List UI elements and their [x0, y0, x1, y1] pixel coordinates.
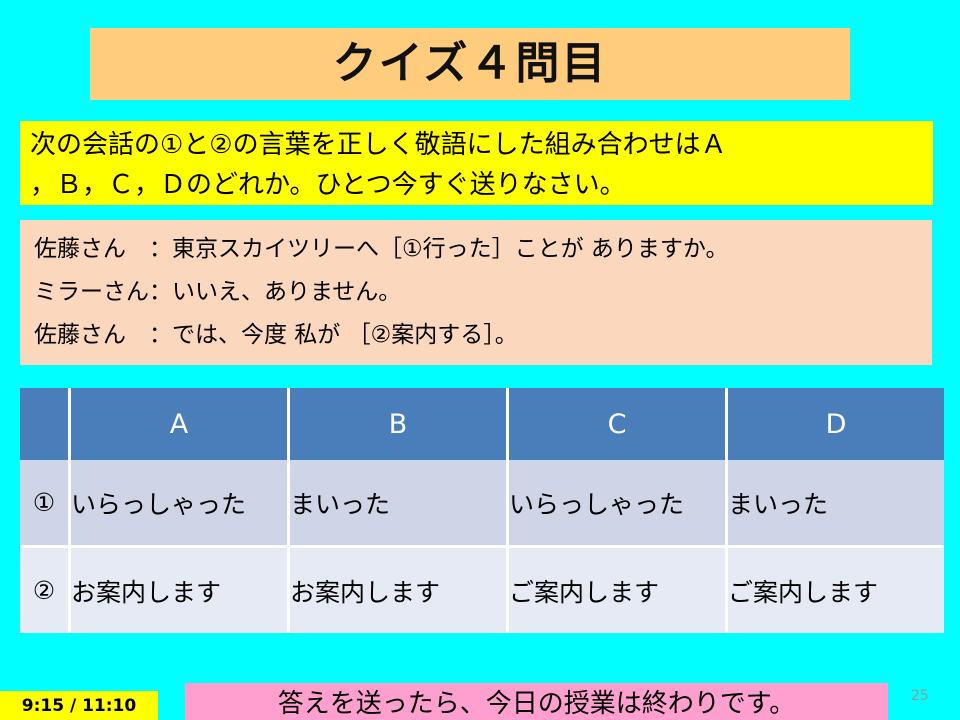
- closing-message-box: 答えを送ったら、今日の授業は終わりです。: [185, 683, 888, 720]
- answer-options-table: A B C D ① いらっしゃった まいった いらっしゃった まいった ② お案…: [20, 388, 944, 633]
- table-header-a: A: [71, 388, 290, 460]
- cell-row1-c: いらっしゃった: [509, 460, 728, 548]
- table-header-b: B: [290, 388, 509, 460]
- cell-row2-b: お案内します: [290, 548, 509, 633]
- table-header-row: A B C D: [20, 388, 944, 460]
- row-label-2: ②: [20, 548, 71, 633]
- cell-row2-a: お案内します: [71, 548, 290, 633]
- table-header-d: D: [728, 388, 944, 460]
- question-line-1: 次の会話の①と②の言葉を正しく敬語にした組み合わせはＡ: [30, 125, 925, 165]
- table-header-c: C: [509, 388, 728, 460]
- question-line-2: ，Ｂ，Ｃ，Ｄのどれか。ひとつ今すぐ送りなさい。: [30, 165, 925, 205]
- question-box: 次の会話の①と②の言葉を正しく敬語にした組み合わせはＡ ，Ｂ，Ｃ，Ｄのどれか。ひ…: [20, 121, 933, 205]
- dialogue-line-1: 佐藤さん ：東京スカイツリーへ［①行った］ことが ありますか。: [34, 228, 932, 271]
- row-label-1: ①: [20, 460, 71, 548]
- timer-box: 9:15 / 11:10: [0, 691, 158, 720]
- page-title: クイズ４問目: [333, 42, 608, 86]
- timer-text: 9:15 / 11:10: [22, 696, 136, 716]
- table-row: ② お案内します お案内します ご案内します ご案内します: [20, 548, 944, 633]
- dialogue-line-2: ミラーさん：いいえ、ありません。: [34, 271, 932, 314]
- cell-row1-a: いらっしゃった: [71, 460, 290, 548]
- cell-row2-c: ご案内します: [509, 548, 728, 633]
- closing-message-text: 答えを送ったら、今日の授業は終わりです。: [278, 683, 795, 720]
- cell-row1-b: まいった: [290, 460, 509, 548]
- table-header-corner: [20, 388, 71, 460]
- dialogue-line-3: 佐藤さん ：では、今度 私が ［②案内する］。: [34, 314, 932, 357]
- slide-canvas: クイズ４問目 次の会話の①と②の言葉を正しく敬語にした組み合わせはＡ ，Ｂ，Ｃ，…: [0, 0, 960, 720]
- cell-row1-d: まいった: [728, 460, 944, 548]
- cell-row2-d: ご案内します: [728, 548, 944, 633]
- page-number: 25: [911, 688, 929, 704]
- title-box: クイズ４問目: [90, 28, 850, 100]
- table-row: ① いらっしゃった まいった いらっしゃった まいった: [20, 460, 944, 548]
- dialogue-box: 佐藤さん ：東京スカイツリーへ［①行った］ことが ありますか。 ミラーさん：いい…: [20, 220, 932, 365]
